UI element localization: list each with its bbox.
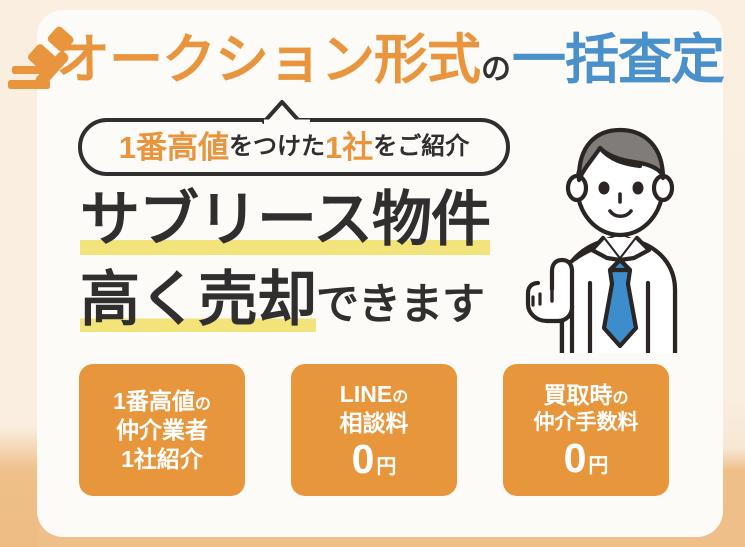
feature-box-1-line-2: 仲介業者 xyxy=(116,416,208,444)
headline-part2: 一括査定 xyxy=(512,33,724,87)
headline: オークション形式 の 一括査定 xyxy=(56,33,716,99)
main-copy-line-2: 高く売却 できます xyxy=(80,270,484,332)
feature-box-row: 1番高値の 仲介業者 1社紹介 LINEの 相談料 0 円 買取時の 仲介手数料… xyxy=(79,364,669,496)
feature-box-line-consultation-fee[interactable]: LINEの 相談料 0 円 xyxy=(291,364,457,496)
feature-box-1-line-1-suffix: の xyxy=(195,396,211,413)
speech-bubble-tail xyxy=(262,98,312,124)
feature-box-2-line-1-text: LINE xyxy=(340,381,392,407)
feature-box-3-line-1: 買取時の xyxy=(543,381,628,409)
feature-box-3-yen: 円 xyxy=(586,456,608,476)
bubble-seg3: 1社 xyxy=(325,132,373,163)
main-copy-line-1: サブリース物件 xyxy=(80,190,490,250)
main-copy-line-1-text: サブリース物件 xyxy=(80,186,490,255)
feature-box-3-zero: 0 xyxy=(564,438,587,479)
promo-banner: オークション形式 の 一括査定 1番高値 をつけた 1社 をご紹介 サブリース物… xyxy=(0,0,745,547)
speech-bubble: 1番高値 をつけた 1社 をご紹介 xyxy=(78,118,510,176)
feature-box-purchase-brokerage-fee[interactable]: 買取時の 仲介手数料 0 円 xyxy=(503,364,669,496)
feature-box-2-price: 0 円 xyxy=(352,439,397,480)
feature-box-2-line-1: LINEの xyxy=(340,380,408,408)
feature-box-2-yen: 円 xyxy=(374,457,396,477)
feature-box-3-line-1-suffix: の xyxy=(612,390,628,407)
main-copy-emphasis: 高く売却 xyxy=(80,270,316,332)
feature-box-1-line-1-text: 1番高値 xyxy=(113,388,195,414)
feature-box-2-line-2: 相談料 xyxy=(340,409,409,437)
feature-box-2-zero: 0 xyxy=(352,439,375,480)
gavel-icon xyxy=(6,26,98,98)
bubble-seg1: 1番高値 xyxy=(119,132,229,163)
bubble-seg2: をつけた xyxy=(229,135,325,159)
headline-part1: オークション形式 xyxy=(56,33,480,87)
headline-connector: の xyxy=(480,55,512,85)
businessman-illustration xyxy=(500,108,725,353)
main-copy-tail: できます xyxy=(316,284,484,327)
feature-box-3-line-1-text: 買取時 xyxy=(543,382,612,408)
feature-box-1-line-1: 1番高値の xyxy=(113,387,211,415)
feature-box-2-line-1-suffix: の xyxy=(392,389,408,406)
bubble-seg4: をご紹介 xyxy=(373,135,469,159)
feature-box-3-line-2: 仲介手数料 xyxy=(534,410,639,436)
feature-box-top-price-agent[interactable]: 1番高値の 仲介業者 1社紹介 xyxy=(79,364,245,496)
feature-box-3-price: 0 円 xyxy=(564,438,609,479)
feature-box-1-line-3: 1社紹介 xyxy=(121,445,203,473)
